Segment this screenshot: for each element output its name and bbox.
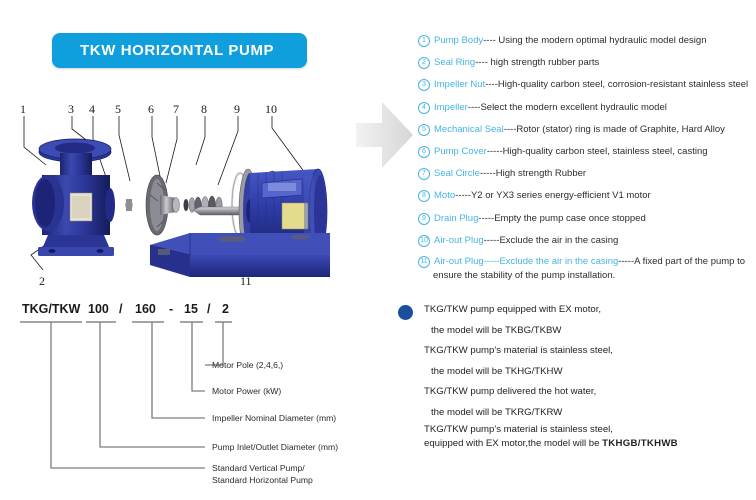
variant-line-4: the model will be TKHG/TKHW (431, 362, 748, 383)
code-slash-1: / (119, 302, 123, 316)
circled-number-icon: 7 (418, 168, 430, 180)
title-banner: TKW HORIZONTAL PUMP (52, 33, 307, 68)
part-name: Impeller (434, 102, 468, 113)
callout-3: 3 (68, 102, 74, 116)
circled-number-icon: 3 (418, 79, 430, 91)
callout-11: 11 (240, 274, 252, 288)
circled-number-icon: 9 (418, 213, 430, 225)
part-description: High-quality carbon steel, corrosion-res… (498, 79, 748, 90)
callout-8: 8 (201, 102, 207, 116)
circled-number-icon: 2 (418, 57, 430, 69)
code-power: 15 (184, 302, 198, 316)
variant-line-8-model-code: TKHGB/TKHWB (602, 438, 678, 449)
part-item-8: 8Moto-----Y2 or YX3 series energy-effici… (418, 187, 756, 204)
variant-line-8: equipped with EX motor,the model will be… (424, 437, 748, 451)
part-item-3: 3Impeller Nut----High-quality carbon ste… (418, 76, 756, 93)
part-name: Seal Circle (434, 168, 480, 179)
part-separator: ---- (475, 57, 488, 68)
part-item-5: 5Mechanical Seal----Rotor (stator) ring … (418, 121, 756, 138)
part-separator: ----- (480, 168, 496, 179)
part-name: Impeller Nut (434, 79, 485, 90)
part-item-11: 11Air-out Plug-----Exclude the air in th… (418, 254, 756, 283)
part-name: Pump Cover (434, 146, 487, 157)
callout-2: 2 (39, 274, 45, 288)
part-separator: ----- (484, 256, 500, 267)
code-impeller: 160 (135, 302, 156, 316)
part-separator: ----- (484, 235, 500, 246)
circled-number-icon: 8 (418, 190, 430, 202)
pump-product-sheet: TKW HORIZONTAL PUMP (0, 0, 756, 500)
part-separator: ---- (483, 35, 496, 46)
code-slash-2: / (207, 302, 211, 316)
circled-number-icon: 6 (418, 146, 430, 158)
part-separator: ---- (468, 102, 481, 113)
part-item-2: 2Seal Ring---- high strength rubber part… (418, 54, 756, 71)
label-standard-v: Standard Vertical Pump/ (212, 463, 305, 473)
parts-description-list: 1Pump Body---- Using the modern optimal … (418, 32, 756, 288)
part-description: Exclude the air in the casing (499, 235, 618, 246)
part-description: Rotor (stator) ring is made of Graphite,… (516, 124, 725, 135)
variant-notes-block: TKG/TKW pump equipped with EX motor, the… (398, 300, 748, 451)
part-description-tail: -----A fixed part of the pump to (618, 256, 745, 267)
code-inlet: 100 (88, 302, 109, 316)
impeller-nut-graphic (126, 199, 132, 211)
part-separator: ----- (455, 190, 471, 201)
part-item-1: 1Pump Body---- Using the modern optimal … (418, 32, 756, 49)
code-prefix: TKG/TKW (22, 302, 81, 316)
part-item-4: 4Impeller----Select the modern excellent… (418, 99, 756, 116)
circled-number-icon: 5 (418, 124, 430, 136)
exploded-pump-diagram: 1 2 3 4 5 6 7 8 9 10 11 (0, 95, 400, 290)
bullet-dot-icon (398, 305, 413, 320)
label-motor-power: Motor Power (kW) (212, 386, 281, 396)
part-name: Moto (434, 190, 455, 201)
variant-line-7: TKG/TKW pump's material is stainless ste… (424, 423, 748, 437)
part-separator: ----- (478, 213, 494, 224)
part-description: Y2 or YX3 series energy-efficient V1 mot… (471, 190, 651, 201)
circled-number-icon: 4 (418, 102, 430, 114)
callout-7: 7 (173, 102, 179, 116)
part-separator: ----- (487, 146, 503, 157)
circled-number-icon: 10 (418, 235, 430, 247)
variant-line-3: TKG/TKW pump's material is stainless ste… (424, 341, 748, 362)
part-description: Select the modern excellent hydraulic mo… (480, 102, 666, 113)
variant-line-6: the model will be TKRG/TKRW (431, 403, 748, 424)
part-separator: ---- (485, 79, 498, 90)
part-name: Drain Plug (434, 213, 478, 224)
part-description-continued: ensure the stability of the pump install… (433, 269, 756, 283)
part-item-10: 10Air-out Plug-----Exclude the air in th… (418, 232, 756, 249)
callout-6: 6 (148, 102, 154, 116)
part-description-blue: Exclude the air in the casing (499, 256, 618, 267)
part-description: High strength Rubber (496, 168, 586, 179)
callout-1: 1 (20, 102, 26, 116)
part-item-6: 6Pump Cover-----High-quality carbon stee… (418, 143, 756, 160)
callout-5: 5 (115, 102, 121, 116)
part-name: Seal Ring (434, 57, 475, 68)
part-item-7: 7Seal Circle-----High strength Rubber (418, 165, 756, 182)
part-description: High-quality carbon steel, stainless ste… (503, 146, 708, 157)
page-title: TKW HORIZONTAL PUMP (80, 42, 274, 59)
callout-9: 9 (234, 102, 240, 116)
part-separator: ---- (504, 124, 517, 135)
circled-number-icon: 11 (418, 256, 430, 268)
part-description: Using the modern optimal hydraulic model… (496, 35, 707, 46)
part-item-9: 9Drain Plug-----Empty the pump case once… (418, 210, 756, 227)
part-description: Empty the pump case once stopped (494, 213, 646, 224)
label-impeller-dia: Impeller Nominal Diameter (mm) (212, 413, 336, 423)
part-name: Pump Body (434, 35, 483, 46)
variant-line-5: TKG/TKW pump delivered the hot water, (424, 382, 748, 403)
variant-line-2: the model will be TKBG/TKBW (431, 321, 748, 342)
label-inlet-outlet: Pump Inlet/Outlet Diameter (mm) (212, 442, 338, 452)
base-plate-graphic (150, 233, 330, 277)
code-pole: 2 (222, 302, 229, 316)
circled-number-icon: 1 (418, 35, 430, 47)
callout-4: 4 (89, 102, 95, 116)
part-name: Air-out Plug (434, 256, 484, 267)
pump-body-graphic (32, 139, 115, 256)
designation-leader-lines (51, 322, 223, 468)
part-description: high strength rubber parts (488, 57, 599, 68)
part-name: Mechanical Seal (434, 124, 504, 135)
model-designation-diagram: TKG/TKW 100 / 160 - 15 / 2 (0, 295, 400, 495)
code-dash: - (169, 302, 173, 316)
impeller-graphic (146, 175, 180, 235)
variant-line-8-prefix: equipped with EX motor,the model will be (424, 438, 602, 449)
variant-line-1: TKG/TKW pump equipped with EX motor, (424, 300, 748, 321)
label-standard-h: Standard Horizontal Pump (212, 475, 313, 485)
label-motor-pole: Motor Pole (2,4,6,) (212, 360, 283, 370)
callout-10: 10 (265, 102, 277, 116)
part-name: Air-out Plug (434, 235, 484, 246)
right-arrow-icon (356, 96, 414, 174)
